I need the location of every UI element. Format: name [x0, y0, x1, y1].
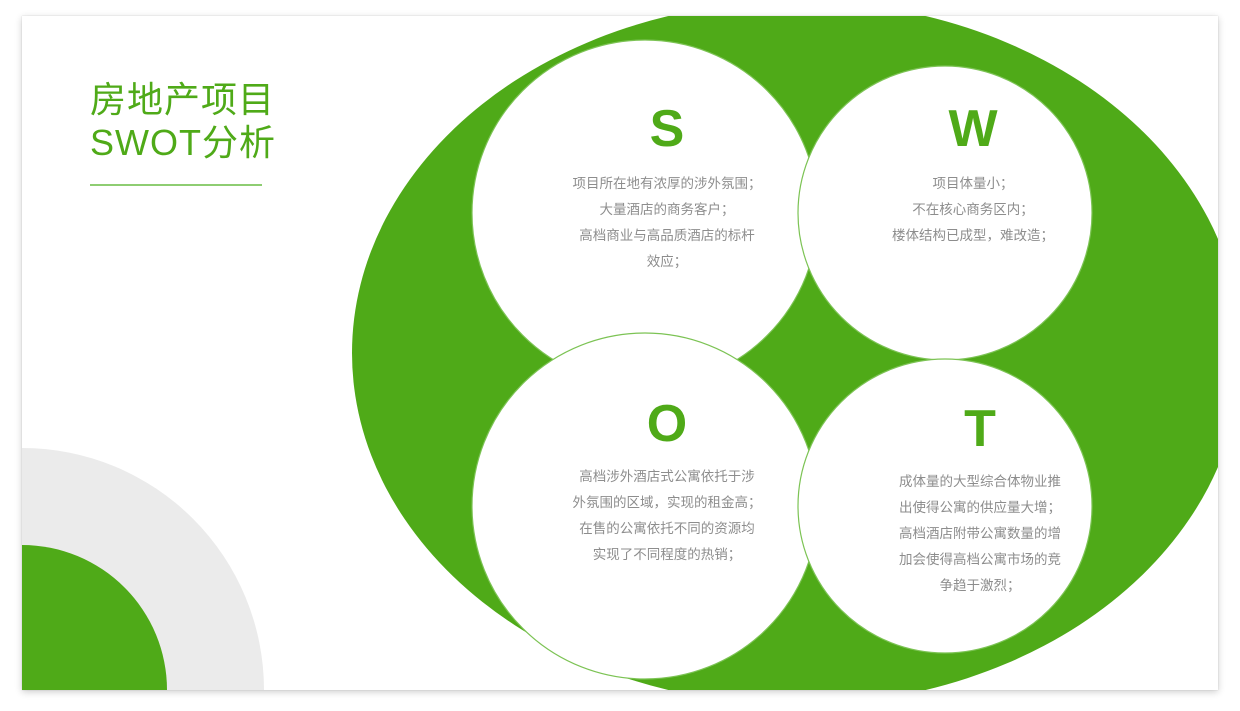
title-line-1: 房地产项目 [90, 78, 390, 121]
circle-threats[interactable] [798, 359, 1092, 653]
presentation-slide: 房地产项目 SWOT分析 S 项目所在地有浓厚的涉外氛围； 大量酒店的商务客户；… [22, 16, 1218, 690]
swot-diagram: 房地产项目 SWOT分析 S 项目所在地有浓厚的涉外氛围； 大量酒店的商务客户；… [22, 16, 1218, 690]
title-line-2: SWOT分析 [90, 121, 390, 164]
screenshot-stage: 房地产项目 SWOT分析 S 项目所在地有浓厚的涉外氛围； 大量酒店的商务客户；… [0, 0, 1240, 711]
circle-weaknesses[interactable] [798, 66, 1092, 360]
title-divider [90, 184, 262, 186]
slide-title: 房地产项目 SWOT分析 [90, 78, 390, 186]
circle-opportunities[interactable] [472, 333, 818, 679]
